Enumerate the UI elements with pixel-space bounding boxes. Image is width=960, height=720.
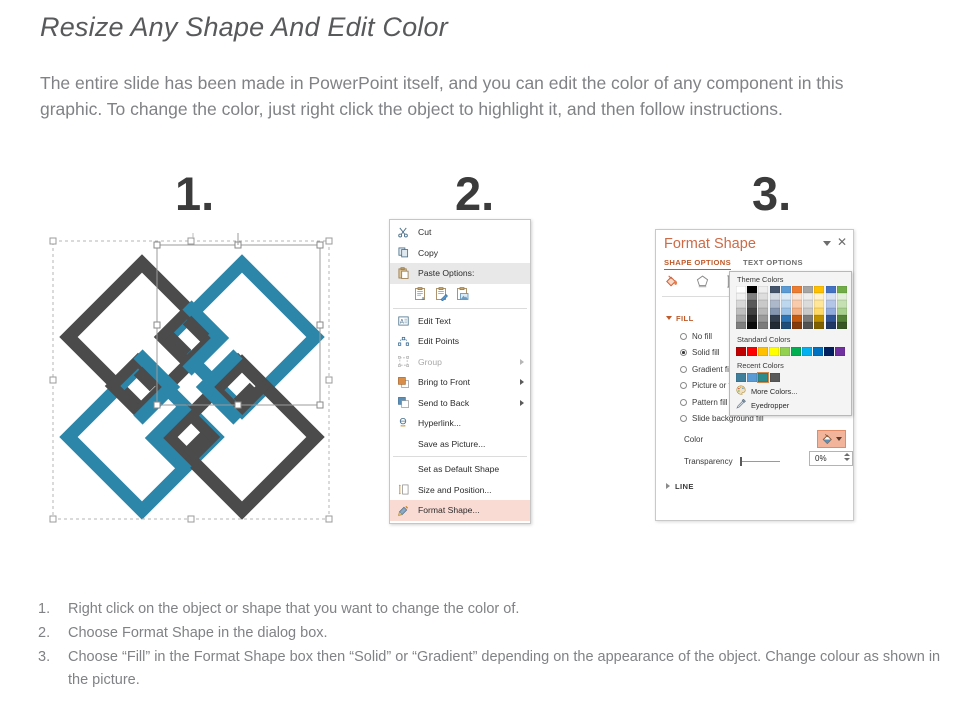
- theme-color-swatch[interactable]: [736, 293, 746, 300]
- theme-color-swatch[interactable]: [781, 315, 791, 322]
- theme-color-swatch[interactable]: [803, 315, 813, 322]
- theme-color-swatch[interactable]: [758, 308, 768, 315]
- step-number-2: 2.: [455, 170, 494, 217]
- spinner-arrows[interactable]: [844, 453, 850, 461]
- menu-item-hyperlink[interactable]: Hyperlink...: [390, 413, 530, 434]
- standard-colors-heading: Standard Colors: [730, 332, 851, 346]
- tab-shape-options[interactable]: SHAPE OPTIONS: [664, 258, 731, 270]
- theme-color-swatch[interactable]: [803, 300, 813, 307]
- theme-color-swatch[interactable]: [826, 293, 836, 300]
- theme-color-swatch[interactable]: [826, 300, 836, 307]
- theme-color-swatch[interactable]: [814, 322, 824, 329]
- slider-knob[interactable]: [740, 457, 742, 466]
- list-item: 1. Right click on the object or shape th…: [38, 598, 943, 621]
- theme-color-swatch[interactable]: [826, 322, 836, 329]
- theme-color-swatch[interactable]: [781, 322, 791, 329]
- shape-illustration[interactable]: [45, 233, 337, 528]
- radio-icon: [680, 399, 687, 406]
- eyedropper-icon: [736, 399, 746, 411]
- theme-color-swatch[interactable]: [781, 300, 791, 307]
- list-item-number: 2.: [38, 622, 68, 645]
- list-item-number: 1.: [38, 598, 68, 621]
- standard-color-swatch[interactable]: [780, 347, 790, 356]
- theme-color-swatch[interactable]: [792, 286, 802, 293]
- theme-colors-grid[interactable]: [730, 286, 851, 329]
- theme-colors-heading: Theme Colors: [730, 272, 851, 286]
- recent-colors-heading: Recent Colors: [730, 358, 851, 372]
- menu-item-format-shape[interactable]: Format Shape...: [390, 500, 530, 521]
- standard-color-swatch[interactable]: [791, 347, 801, 356]
- transparency-row[interactable]: Transparency 0%: [684, 456, 849, 466]
- color-picker-flyout[interactable]: Theme Colors Standard Colors Recent Colo…: [729, 271, 852, 416]
- paste-picture-icon[interactable]: [456, 287, 470, 303]
- theme-color-swatch[interactable]: [736, 315, 746, 322]
- theme-color-swatch[interactable]: [837, 308, 847, 315]
- theme-color-column[interactable]: [747, 286, 757, 329]
- page-subtitle: The entire slide has been made in PowerP…: [40, 70, 872, 122]
- more-colors-item[interactable]: More Colors...: [730, 384, 851, 398]
- recent-colors-row[interactable]: [730, 372, 851, 384]
- theme-color-swatch[interactable]: [747, 315, 757, 322]
- format-shape-tabs[interactable]: SHAPE OPTIONS TEXT OPTIONS: [664, 258, 803, 270]
- slide-canvas: Resize Any Shape And Edit Color The enti…: [0, 0, 960, 720]
- menu-item-label: Size and Position...: [412, 485, 492, 495]
- recent-color-swatch[interactable]: [758, 373, 768, 382]
- theme-color-swatch[interactable]: [758, 322, 768, 329]
- theme-color-swatch[interactable]: [781, 308, 791, 315]
- menu-item-label: Copy: [412, 248, 438, 258]
- theme-color-swatch[interactable]: [803, 308, 813, 315]
- menu-item-edit-points[interactable]: Edit Points: [390, 331, 530, 352]
- transparency-spinner[interactable]: 0%: [809, 451, 853, 466]
- theme-color-swatch[interactable]: [736, 322, 746, 329]
- theme-color-swatch[interactable]: [747, 293, 757, 300]
- theme-color-swatch[interactable]: [758, 293, 768, 300]
- theme-color-swatch[interactable]: [758, 286, 768, 293]
- menu-item-label: Save as Picture...: [394, 439, 485, 449]
- bring-front-icon: [394, 375, 412, 390]
- theme-color-swatch[interactable]: [792, 308, 802, 315]
- theme-color-swatch[interactable]: [803, 322, 813, 329]
- eyedropper-item[interactable]: Eyedropper: [730, 398, 851, 412]
- menu-item-label: Cut: [412, 227, 431, 237]
- paste-merge-formatting-icon[interactable]: [435, 287, 449, 303]
- theme-color-column[interactable]: [758, 286, 768, 329]
- theme-color-swatch[interactable]: [736, 300, 746, 307]
- menu-item-set-as-default-shape[interactable]: Set as Default Shape: [390, 459, 530, 480]
- submenu-arrow-icon: [520, 400, 524, 406]
- theme-color-swatch[interactable]: [747, 308, 757, 315]
- fill-section-label: FILL: [676, 314, 694, 323]
- menu-item-save-as-picture[interactable]: Save as Picture...: [390, 434, 530, 455]
- theme-color-swatch[interactable]: [770, 300, 780, 307]
- transparency-label: Transparency: [684, 457, 733, 466]
- theme-color-swatch[interactable]: [747, 286, 757, 293]
- recent-color-swatch[interactable]: [770, 373, 780, 382]
- effects-pentagon-icon[interactable]: [695, 274, 710, 294]
- tab-text-options[interactable]: TEXT OPTIONS: [743, 258, 803, 270]
- theme-color-swatch[interactable]: [758, 300, 768, 307]
- theme-color-swatch[interactable]: [792, 315, 802, 322]
- menu-item-group: Group: [390, 352, 530, 373]
- spinner-down-icon[interactable]: [844, 458, 850, 461]
- format-shape-title: Format Shape: [664, 236, 756, 252]
- spinner-up-icon[interactable]: [844, 453, 850, 456]
- theme-color-swatch[interactable]: [814, 308, 824, 315]
- menu-item-label: Paste Options:: [412, 268, 474, 278]
- radio-icon: [680, 366, 687, 373]
- list-item: 2. Choose Format Shape in the dialog box…: [38, 622, 943, 645]
- standard-color-swatch[interactable]: [813, 347, 823, 356]
- menu-item-label: Hyperlink...: [412, 418, 461, 428]
- theme-color-swatch[interactable]: [736, 308, 746, 315]
- radio-label: No fill: [692, 332, 712, 341]
- standard-color-swatch[interactable]: [824, 347, 834, 356]
- theme-color-swatch[interactable]: [792, 293, 802, 300]
- paste-icon: [394, 266, 412, 281]
- chevron-down-icon[interactable]: [823, 241, 831, 246]
- menu-item-copy[interactable]: Copy: [390, 243, 530, 264]
- recent-color-swatch[interactable]: [736, 373, 746, 382]
- line-section-label: LINE: [675, 482, 694, 491]
- theme-color-column[interactable]: [803, 286, 813, 329]
- theme-color-column[interactable]: [814, 286, 824, 329]
- theme-color-swatch[interactable]: [826, 286, 836, 293]
- menu-item-bring-to-front[interactable]: Bring to Front: [390, 372, 530, 393]
- theme-color-swatch[interactable]: [814, 293, 824, 300]
- recent-color-swatch[interactable]: [747, 373, 757, 382]
- fill-bucket-icon[interactable]: [664, 274, 679, 294]
- menu-item-label: Format Shape...: [412, 505, 480, 515]
- theme-color-swatch[interactable]: [770, 293, 780, 300]
- theme-color-swatch[interactable]: [736, 286, 746, 293]
- outer-selection-frame: [53, 241, 329, 519]
- theme-color-swatch[interactable]: [792, 322, 802, 329]
- size-position-icon: [394, 482, 412, 497]
- palette-icon: [736, 385, 746, 397]
- theme-color-swatch[interactable]: [747, 322, 757, 329]
- context-menu[interactable]: Cut Copy Paste Options:: [389, 219, 531, 524]
- theme-color-swatch[interactable]: [814, 315, 824, 322]
- theme-color-swatch[interactable]: [781, 286, 791, 293]
- list-item: 3. Choose “Fill” in the Format Shape box…: [38, 646, 943, 692]
- theme-color-swatch[interactable]: [837, 293, 847, 300]
- radio-label: Pattern fill: [692, 398, 728, 407]
- menu-item-size-and-position[interactable]: Size and Position...: [390, 480, 530, 501]
- more-colors-label: More Colors...: [751, 387, 797, 396]
- theme-color-swatch[interactable]: [770, 286, 780, 293]
- line-section-header[interactable]: LINE: [666, 482, 694, 491]
- fill-color-icon: [821, 433, 834, 446]
- interlocking-diamonds-icon: [45, 233, 337, 528]
- theme-color-swatch[interactable]: [837, 322, 847, 329]
- theme-color-swatch[interactable]: [837, 315, 847, 322]
- theme-color-column[interactable]: [837, 286, 847, 329]
- group-icon: [394, 354, 412, 369]
- fill-section-header[interactable]: FILL: [666, 314, 694, 323]
- radio-label: Gradient fill: [692, 365, 732, 374]
- theme-color-column[interactable]: [781, 286, 791, 329]
- menu-item-label: Edit Text: [412, 316, 451, 326]
- menu-item-label: Send to Back: [412, 398, 469, 408]
- menu-item-label: Group: [412, 357, 442, 367]
- list-item-text: Choose Format Shape in the dialog box.: [68, 622, 943, 645]
- close-icon[interactable]: ✕: [837, 236, 847, 248]
- menu-item-edit-text[interactable]: A Edit Text: [390, 311, 530, 332]
- menu-item-label: Bring to Front: [412, 377, 470, 387]
- standard-color-swatch[interactable]: [736, 347, 746, 356]
- eyedropper-label: Eyedropper: [751, 401, 789, 410]
- expand-triangle-icon: [666, 316, 672, 320]
- page-title: Resize Any Shape And Edit Color: [40, 12, 448, 43]
- instruction-list: 1. Right click on the object or shape th…: [38, 598, 943, 693]
- theme-color-swatch[interactable]: [770, 315, 780, 322]
- radio-icon-selected: [680, 349, 687, 356]
- slider-track: [742, 461, 780, 462]
- edit-points-icon: [394, 334, 412, 349]
- list-item-number: 3.: [38, 646, 68, 692]
- radio-label: Solid fill: [692, 348, 720, 357]
- chevron-down-icon[interactable]: [836, 437, 842, 441]
- scissors-icon: [394, 225, 412, 240]
- transparency-slider[interactable]: [738, 456, 782, 466]
- standard-color-swatch[interactable]: [769, 347, 779, 356]
- standard-color-swatch[interactable]: [835, 347, 845, 356]
- format-shape-icon: [394, 503, 412, 518]
- color-row[interactable]: Color: [684, 435, 844, 444]
- step-number-1: 1.: [175, 170, 214, 217]
- theme-color-swatch[interactable]: [826, 315, 836, 322]
- theme-color-swatch[interactable]: [837, 286, 847, 293]
- svg-text:A: A: [399, 319, 403, 325]
- menu-separator: [393, 456, 527, 457]
- theme-color-column[interactable]: [736, 286, 746, 329]
- standard-color-swatch[interactable]: [758, 347, 768, 356]
- copy-icon: [394, 245, 412, 260]
- menu-item-paste-options[interactable]: Paste Options:: [390, 263, 530, 284]
- theme-color-swatch[interactable]: [770, 322, 780, 329]
- color-label: Color: [684, 435, 703, 444]
- theme-color-column[interactable]: [770, 286, 780, 329]
- paste-keep-formatting-icon[interactable]: a: [414, 287, 428, 303]
- paste-options-row[interactable]: a: [390, 284, 530, 306]
- edit-text-icon: A: [394, 313, 412, 328]
- svg-text:a: a: [422, 296, 425, 301]
- submenu-arrow-icon: [520, 379, 524, 385]
- theme-color-swatch[interactable]: [747, 300, 757, 307]
- theme-color-swatch[interactable]: [814, 300, 824, 307]
- theme-color-swatch[interactable]: [803, 286, 813, 293]
- collapse-triangle-icon: [666, 483, 670, 489]
- standard-color-swatch[interactable]: [747, 347, 757, 356]
- standard-color-swatch[interactable]: [802, 347, 812, 356]
- list-item-text: Choose “Fill” in the Format Shape box th…: [68, 646, 943, 692]
- color-picker-button[interactable]: [817, 430, 846, 448]
- theme-color-swatch[interactable]: [758, 315, 768, 322]
- transparency-value: 0%: [815, 454, 827, 463]
- hyperlink-icon: [394, 416, 412, 431]
- theme-color-swatch[interactable]: [781, 293, 791, 300]
- theme-color-swatch[interactable]: [814, 286, 824, 293]
- menu-item-cut[interactable]: Cut: [390, 222, 530, 243]
- theme-color-swatch[interactable]: [792, 300, 802, 307]
- list-item-text: Right click on the object or shape that …: [68, 598, 943, 621]
- radio-icon: [680, 382, 687, 389]
- menu-item-send-to-back[interactable]: Send to Back: [390, 393, 530, 414]
- menu-item-label: Set as Default Shape: [394, 464, 499, 474]
- theme-color-swatch[interactable]: [770, 308, 780, 315]
- submenu-arrow-icon: [520, 359, 524, 365]
- standard-colors-row[interactable]: [730, 346, 851, 358]
- send-back-icon: [394, 395, 412, 410]
- radio-icon: [680, 333, 687, 340]
- step-number-3: 3.: [752, 170, 791, 217]
- theme-color-swatch[interactable]: [837, 300, 847, 307]
- theme-color-column[interactable]: [826, 286, 836, 329]
- menu-item-label: Edit Points: [412, 336, 459, 346]
- theme-color-swatch[interactable]: [803, 293, 813, 300]
- radio-icon: [680, 415, 687, 422]
- outer-selection-handles: [50, 238, 332, 522]
- theme-color-swatch[interactable]: [826, 308, 836, 315]
- theme-color-column[interactable]: [792, 286, 802, 329]
- menu-separator: [393, 308, 527, 309]
